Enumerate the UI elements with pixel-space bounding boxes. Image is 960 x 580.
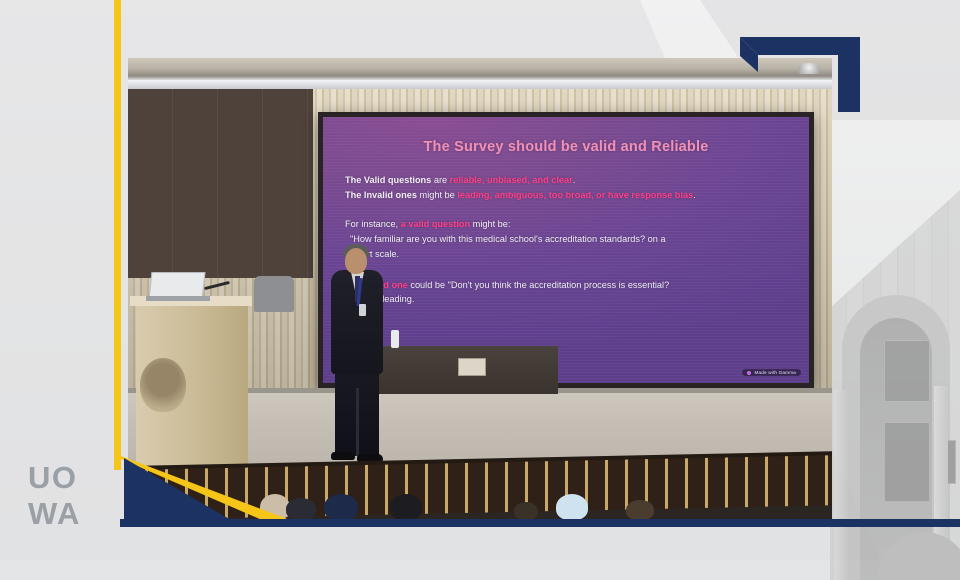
photo-audience-head (286, 498, 316, 520)
slide-body: The Valid questions are reliable, unbias… (345, 173, 795, 307)
photo-speaker-leg-gap (356, 388, 359, 456)
slide-spacer-2 (345, 262, 795, 278)
photo-side-desk-plaque (458, 358, 486, 376)
slide-line-2-mid: might be (417, 190, 457, 200)
slide-line-2-highlight: leading, ambiguous, too broad, or have r… (457, 190, 693, 200)
slide-line-2-tail: . (693, 190, 696, 200)
photo-podium-emblem (140, 358, 186, 412)
slide-line-3-lead: For instance, (345, 219, 401, 229)
slide-line-2-lead: The Invalid ones (345, 190, 417, 200)
slide-line-3-tail: might be: (470, 219, 510, 229)
gamma-badge-label: Made with Gamma (754, 370, 796, 375)
uowa-logo-line-2: WA (28, 498, 100, 529)
photo-audience-head (390, 494, 422, 520)
photo-water-bottle (391, 330, 399, 348)
slide-line-6: An invalid one could be "Don't you think… (345, 278, 795, 293)
campus-window-upper (884, 340, 930, 402)
photo-audience-head (514, 502, 538, 520)
photo-laptop-base (146, 296, 210, 301)
campus-column-left (834, 390, 848, 580)
slide-spacer-1 (345, 203, 795, 217)
photo-audience-head (324, 494, 358, 520)
photo-chair (254, 276, 294, 312)
brand-stripe-vertical-yellow (114, 0, 121, 470)
slide-line-6-tail: could be "Don't you think the accreditat… (408, 280, 669, 290)
slide-line-1: The Valid questions are reliable, unbias… (345, 173, 795, 188)
slide-line-1-highlight: reliable, unbiased, and clear (450, 175, 573, 185)
slide-line-7: Which is leading. (345, 292, 795, 307)
uowa-logo: UO WA (28, 462, 100, 538)
made-with-gamma-badge: Made with Gamma (742, 369, 801, 376)
photo-speaker-head (345, 248, 367, 274)
slide-line-1-mid: are (431, 175, 449, 185)
photo-audience-head (626, 500, 654, 520)
photo-speaker-shoe-left (331, 452, 355, 460)
uowa-logo-line-1: UO (28, 462, 100, 493)
slide-line-1-tail: . (573, 175, 576, 185)
slide-line-1-lead: The Valid questions (345, 175, 431, 185)
campus-window-lower (884, 422, 930, 502)
photo-ceiling-rail (128, 80, 832, 89)
slide-line-4: "How familiar are you with this medical … (345, 232, 795, 247)
slide-line-5: Likert scale. (345, 247, 795, 262)
photo-speaker-id-badge (359, 304, 366, 316)
slide-line-3-highlight: a valid question (401, 219, 470, 229)
slide-title: The Survey should be valid and Reliable (323, 139, 809, 155)
slide-line-2: The Invalid ones might be leading, ambig… (345, 188, 795, 203)
photo-dark-tiled-wall (128, 88, 313, 278)
slide-photo-banner: The Survey should be valid and Reliable … (0, 0, 960, 580)
slide-line-3: For instance, a valid question might be: (345, 217, 795, 232)
security-camera-icon (798, 63, 820, 74)
brand-bar-navy-bottom (120, 519, 960, 527)
gamma-dot-icon (747, 371, 751, 375)
photo-audience-head (556, 494, 588, 520)
lecture-hall-photo: The Survey should be valid and Reliable … (128, 58, 832, 520)
